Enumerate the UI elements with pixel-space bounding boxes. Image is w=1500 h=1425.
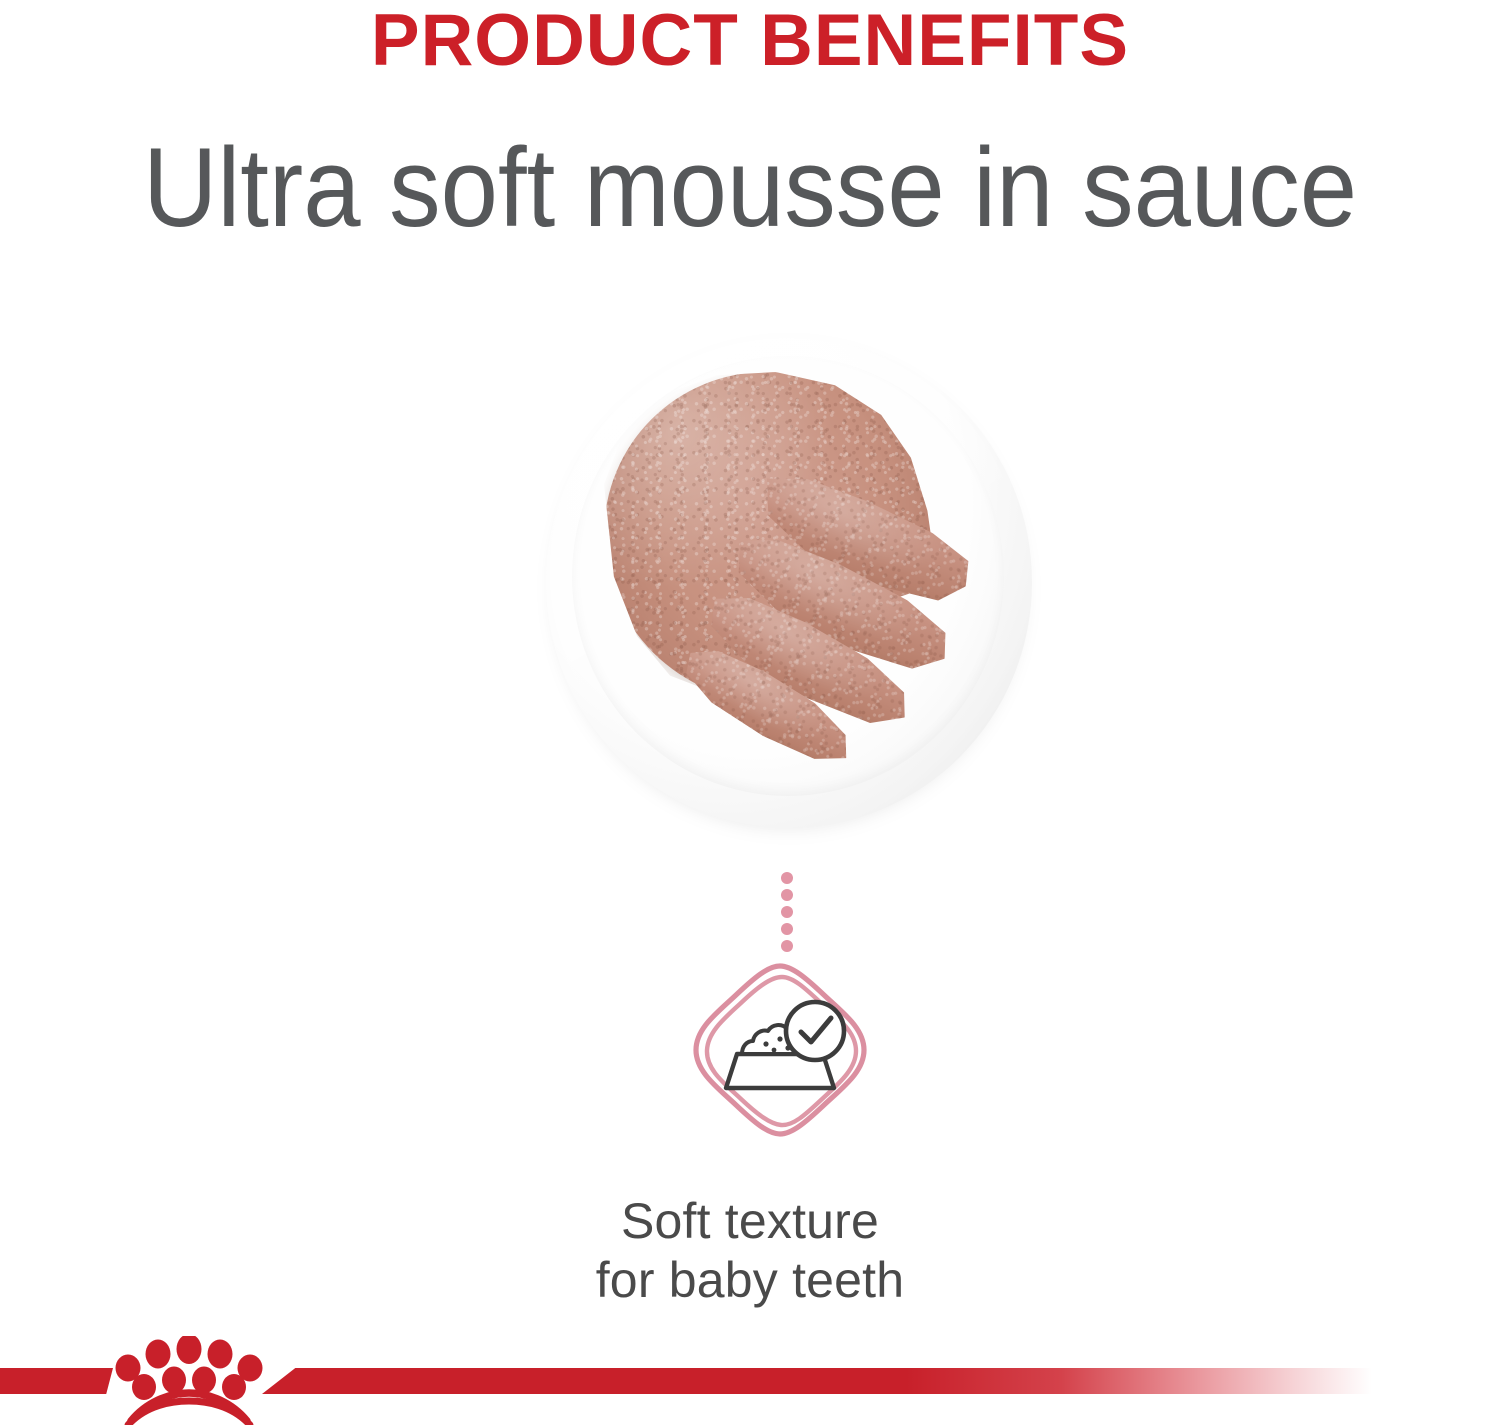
benefit-caption-line-2: for baby teeth: [0, 1251, 1500, 1310]
footer-rule-left: [0, 1368, 113, 1394]
crown-dot: [162, 1367, 186, 1394]
connector-dot: [781, 872, 793, 884]
connector-dot: [781, 906, 793, 918]
crown-dot: [222, 1374, 246, 1400]
footer-rule-right: [262, 1368, 1372, 1394]
crown-dot: [146, 1340, 171, 1369]
product-photo: [520, 320, 1040, 840]
kibble-dot: [763, 1041, 768, 1046]
crown-dot: [208, 1340, 233, 1369]
crown-dot: [192, 1367, 216, 1394]
benefit-caption: Soft texture for baby teeth: [0, 1192, 1500, 1310]
product-benefits-page: PRODUCT BENEFITS Ultra soft mousse in sa…: [0, 0, 1500, 1425]
check-circle: [786, 1002, 844, 1060]
page-eyebrow-heading: PRODUCT BENEFITS: [0, 4, 1500, 77]
page-title: Ultra soft mousse in sauce: [60, 132, 1440, 244]
crown-dot: [177, 1336, 202, 1364]
connector-dot: [781, 889, 793, 901]
dotted-connector: [781, 872, 795, 950]
connector-dot: [781, 923, 793, 935]
royal-canin-crown-logo: [104, 1336, 274, 1425]
connector-dot: [781, 940, 793, 952]
benefit-caption-line-1: Soft texture: [0, 1192, 1500, 1251]
crown-dot: [132, 1374, 156, 1400]
kibble-dot: [777, 1036, 782, 1041]
mousse-portion: [604, 372, 976, 762]
kibble-dot: [772, 1048, 777, 1053]
soft-texture-bowl-check-icon: [688, 958, 872, 1142]
